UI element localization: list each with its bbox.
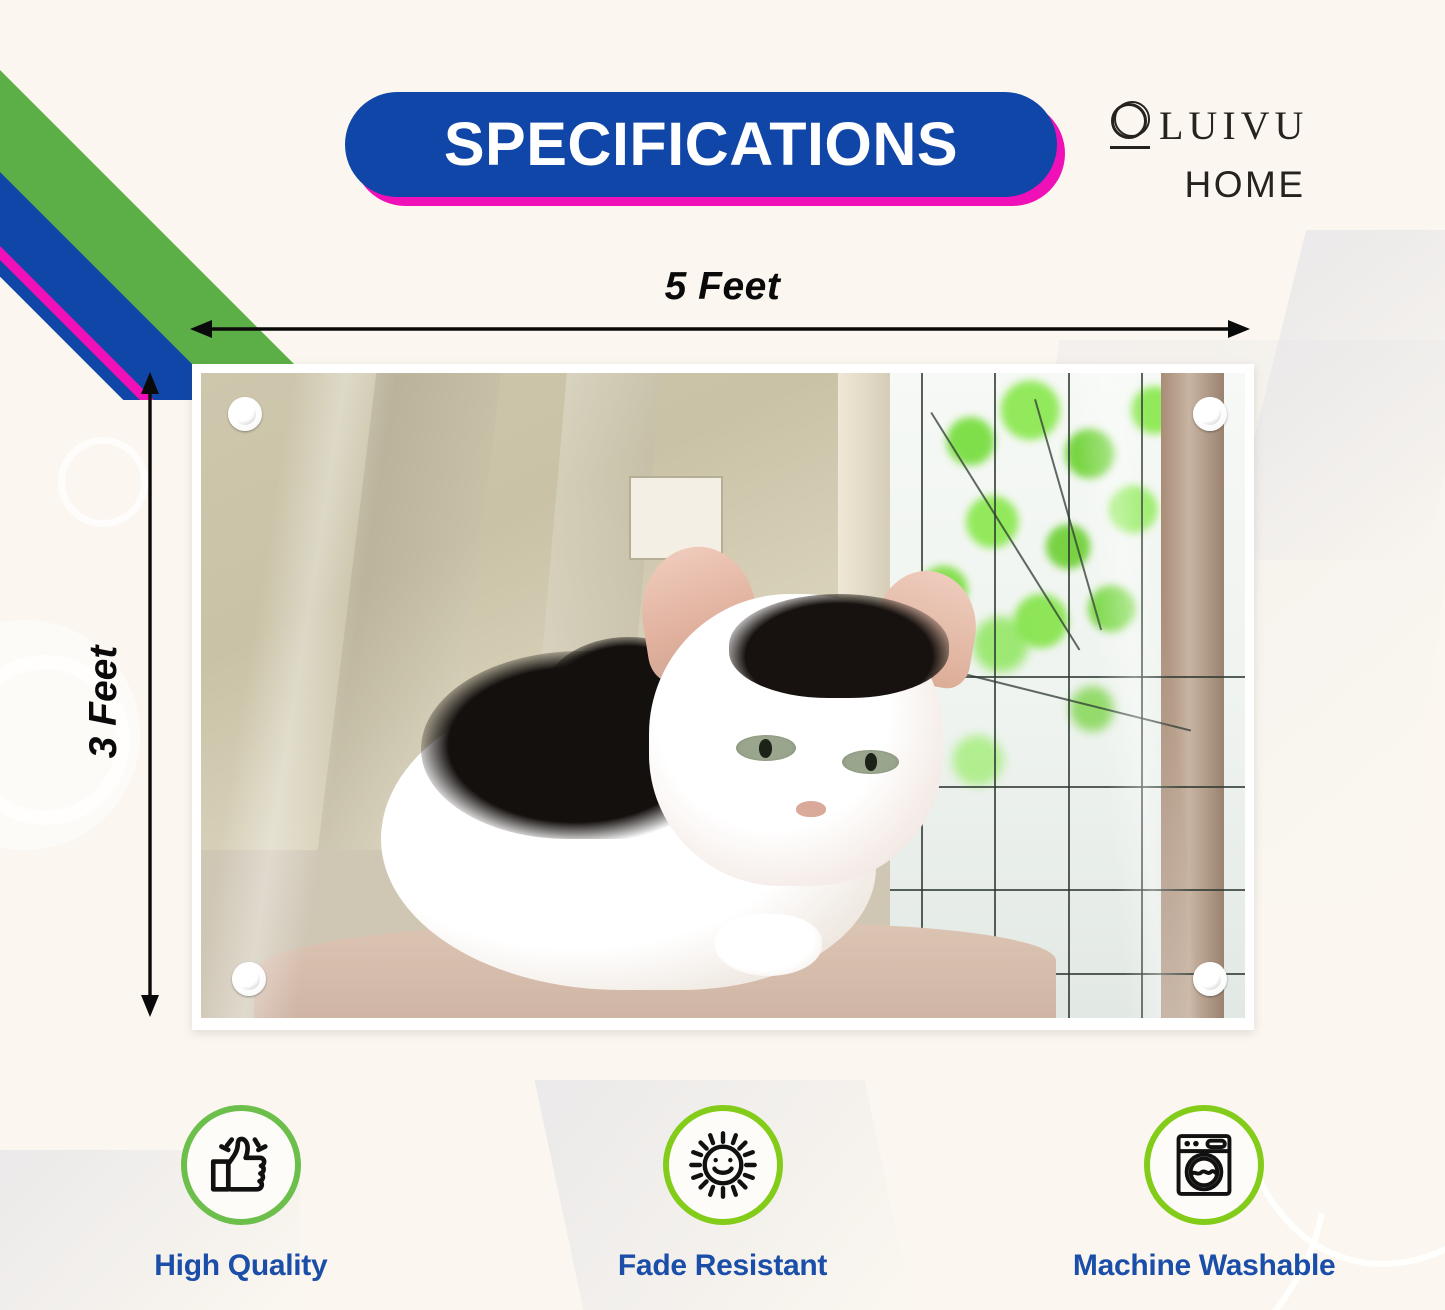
feature-list: High Quality Fade Resistant [0,1105,1445,1310]
brand-name: LUIVU [1159,106,1308,146]
width-dimension-arrow [190,318,1250,340]
photo-post [1161,373,1224,1018]
brand-logo: LUIVU HOME [1108,100,1338,206]
brand-subtitle: HOME [1108,164,1338,206]
brand-logo-row: LUIVU [1108,100,1338,152]
grommet-bottom-right [1193,962,1227,996]
cat-eye-left [736,735,796,761]
cat-head-marking [729,594,949,698]
brand-circle-icon [1108,100,1154,152]
width-dimension-label: 5 Feet [0,265,1445,309]
feature-label: Fade Resistant [618,1249,827,1283]
thumbs-up-icon [204,1128,278,1202]
feature-icon-circle [663,1105,783,1225]
banner-photo [201,373,1245,1018]
page-title: SPECIFICATIONS [444,114,958,175]
washing-machine-icon [1167,1128,1241,1202]
feature-icon-circle [181,1105,301,1225]
feature-icon-circle [1144,1105,1264,1225]
cat-paw [715,914,822,975]
decor-ring [58,437,148,527]
height-dimension-arrow [138,372,162,1017]
feature-label: High Quality [154,1249,327,1283]
header: SPECIFICATIONS LUIVU HOME [0,0,1445,240]
feature-item-machine-washable: Machine Washable [963,1105,1445,1310]
height-dimension-label: 3 Feet [82,592,126,812]
grommet-bottom-left [232,962,266,996]
photo-cat [368,547,1036,1018]
sun-smile-icon [684,1126,762,1204]
cat-eye-right [842,750,899,774]
photo-mesh-line [1141,373,1143,1018]
photo-mesh-line [1068,373,1070,1018]
grommet-top-right [1193,397,1227,431]
grommet-top-left [228,397,262,431]
feature-item-high-quality: High Quality [0,1105,482,1310]
title-badge: SPECIFICATIONS [345,92,1065,207]
product-banner [192,364,1254,1030]
title-badge-fill: SPECIFICATIONS [345,92,1057,197]
feature-label: Machine Washable [1073,1249,1336,1283]
cat-nose [796,801,826,817]
feature-item-fade-resistant: Fade Resistant [482,1105,964,1310]
